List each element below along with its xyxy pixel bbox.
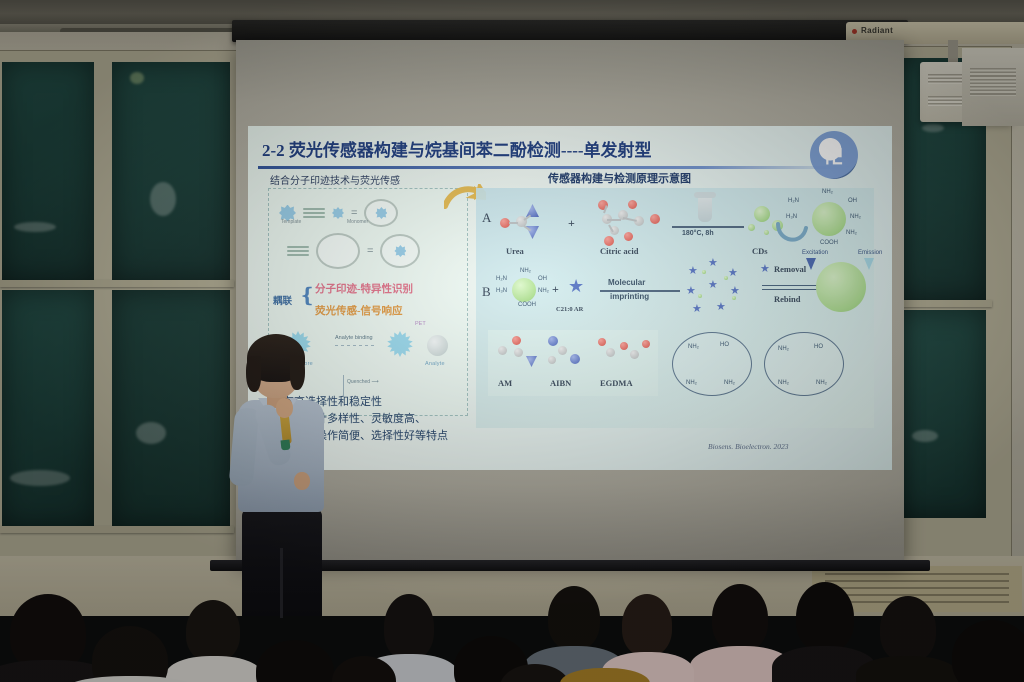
- university-logo-icon: 卍: [810, 131, 858, 179]
- audience-head: [384, 594, 434, 660]
- lecture-hall-scene: Radiant 2-2 荧光传感器构建与烷基间苯二酚检测----单发射型 卍 结…: [0, 0, 1024, 682]
- chalk-rail-lower-left: [0, 526, 234, 533]
- removal-label: Removal: [774, 264, 806, 274]
- couple-label: 耦联: [273, 293, 292, 307]
- removal-star-icon: ★: [760, 262, 770, 275]
- projection-screen-case: [232, 20, 908, 42]
- plus-sign-b: +: [552, 282, 559, 297]
- excitation-label: Excitation: [802, 250, 828, 256]
- chalkboard-panel-1: [2, 62, 94, 280]
- functionalized-cd-icon: [812, 202, 846, 236]
- cd-reactant-icon: [512, 278, 536, 302]
- projected-slide: 2-2 荧光传感器构建与烷基间苯二酚检测----单发射型 卍 结合分子印迹技术与…: [248, 126, 892, 470]
- cd-group-cooh: COOH: [820, 240, 838, 246]
- chalk-rail-upper-left: [0, 280, 234, 287]
- chalkboard-panel-2: [112, 62, 230, 280]
- curve-arrow-icon: [776, 222, 808, 248]
- chalkboard-panel-3: [2, 290, 94, 526]
- audience-head: [952, 620, 1024, 682]
- rebind-label: Rebind: [774, 294, 800, 304]
- chalk-rail-right: [892, 300, 992, 307]
- fluorophore-bound-icon: [387, 331, 413, 357]
- cd-group-nh2-lower: NH₂: [846, 230, 857, 236]
- audience-head: [548, 586, 600, 650]
- audience-head: [796, 582, 854, 652]
- logo-knot-glyph: 卍: [822, 143, 846, 167]
- right-panel-box: A Urea + Citric acid: [476, 188, 874, 428]
- row-a-label: A: [482, 210, 491, 226]
- chalkboard-panel-4: [112, 290, 230, 526]
- audience-head: [712, 584, 768, 652]
- excitation-bolt-icon: [806, 258, 816, 270]
- emission-label: Emission: [858, 250, 882, 256]
- brand-dot-icon: [852, 29, 857, 34]
- emission-bolt-icon: [864, 258, 874, 270]
- cavity-oval-right: [764, 332, 844, 396]
- reagent-citric-acid-label: Citric acid: [600, 246, 638, 256]
- ceiling-speaker-unit: [962, 48, 1024, 126]
- cd-particle-1: [754, 206, 770, 222]
- title-underline: [258, 166, 850, 169]
- left-panel-heading: 结合分子印迹技术与荧光传感: [270, 172, 400, 187]
- reagent-urea-label: Urea: [506, 246, 524, 256]
- formula-right: Quenched ⟶: [347, 379, 379, 386]
- slide-title: 2-2 荧光传感器构建与烷基间苯二酚检测----单发射型: [262, 136, 652, 161]
- monomer-blob-icon: [332, 207, 344, 219]
- imprinting-label-2: imprinting: [610, 292, 649, 301]
- audience-head: [92, 626, 168, 682]
- cd-group-oh: OH: [848, 198, 857, 204]
- row-b-label: B: [482, 284, 491, 300]
- audience-head: [622, 594, 672, 656]
- cd-group-nh2-top: NH₂: [822, 189, 833, 195]
- slide-citation: Biosens. Bioelectron. 2023: [708, 442, 789, 451]
- cavity-oval-left: [672, 332, 752, 396]
- analyte-sphere-icon: [427, 335, 448, 356]
- plus-sign-a: +: [568, 216, 575, 231]
- audience-head: [880, 596, 936, 662]
- cd-group-h2n-1: H₂N: [788, 198, 799, 204]
- brace-icon: ❴: [299, 283, 316, 308]
- reaction-condition-a: 180°C, 8h: [682, 230, 714, 237]
- rebound-cavity-icon: [380, 234, 420, 268]
- imprinted-cavity-icon: [316, 233, 360, 269]
- presenter-hand-on-mic: [276, 398, 293, 418]
- mip-recognition-text: 分子印迹-特异性识别: [315, 281, 413, 296]
- imprinted-polymer-sphere-icon: [816, 262, 866, 312]
- audience: [0, 560, 1024, 682]
- fluorescence-response-text: 荧光传感-信号响应: [315, 303, 403, 318]
- product-cds-label: CDs: [752, 246, 768, 256]
- monomer-egdma-label: EGDMA: [600, 378, 633, 388]
- chalkboard-panel-6: [896, 310, 986, 518]
- pet-label: PET: [415, 321, 426, 327]
- screen-brand-label: Radiant: [861, 26, 893, 35]
- monomer-am-label: AM: [498, 378, 512, 388]
- reaction-arrow-a: [672, 226, 744, 228]
- analyte-binding-label: Analyte binding: [335, 335, 373, 341]
- template-star-icon: ★: [568, 276, 584, 297]
- analyte-label: Analyte: [425, 361, 445, 367]
- imprinting-label-1: Molecular: [608, 278, 645, 287]
- autoclave-icon: [698, 196, 712, 222]
- monomer-aibn-label: AIBN: [550, 378, 571, 388]
- cd-group-nh2-right: NH₂: [850, 214, 861, 220]
- right-panel-heading: 传感器构建与检测原理示意图: [548, 170, 691, 186]
- polymer-cage-icon: [364, 199, 398, 227]
- template-name-label: C21:0 AR: [556, 306, 583, 313]
- audience-head: [256, 640, 334, 682]
- cd-group-h3n: H₃N: [786, 214, 797, 220]
- audience-head: [186, 600, 240, 662]
- presenter-left-hand: [294, 472, 310, 490]
